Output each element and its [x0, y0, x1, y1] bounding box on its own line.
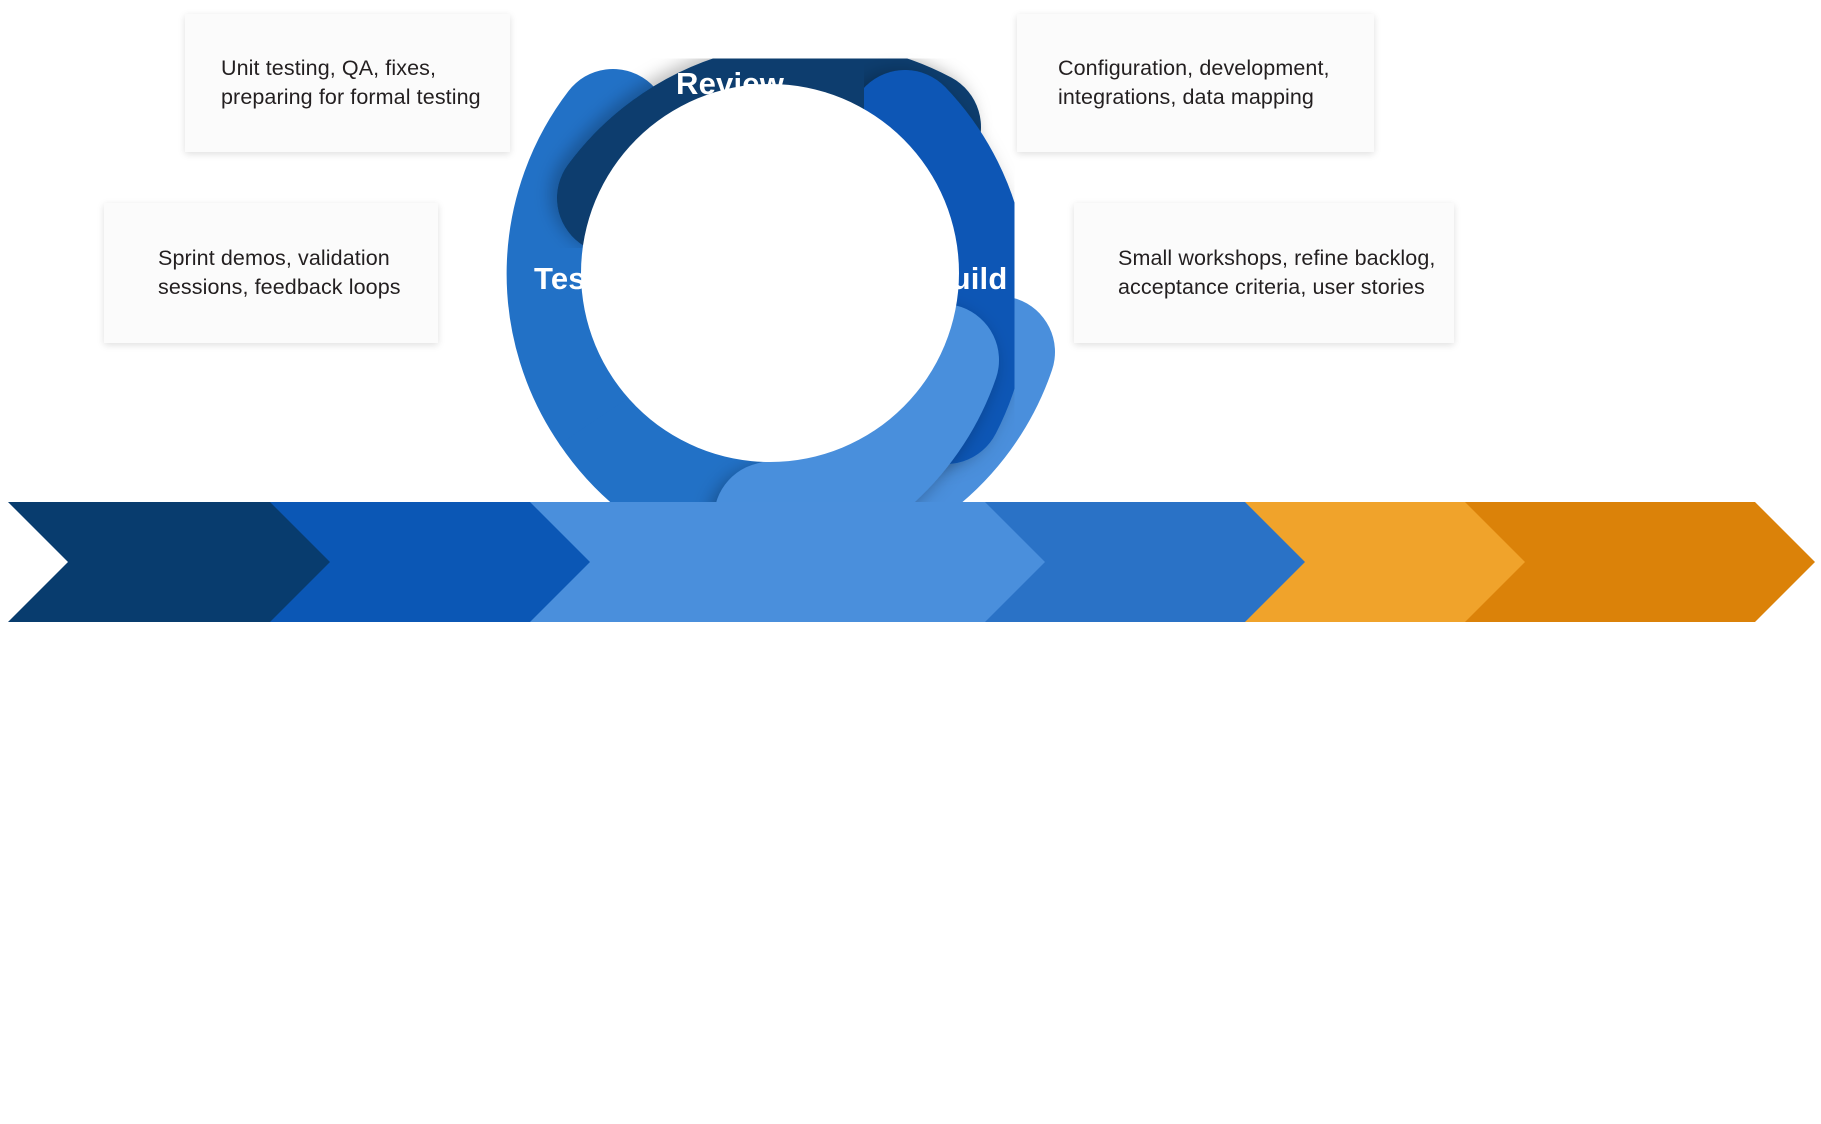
card-demo-activities: Sprint demos, validation sessions, feedb…: [104, 203, 438, 343]
phase-chevron-graphic: [0, 502, 1821, 622]
phase-chevron-bar: Launch Design Develop Confirm Release Su…: [0, 502, 1821, 622]
phase-label-develop[interactable]: Develop: [642, 1004, 772, 1124]
ring-label-build: Build: [929, 261, 1008, 297]
agile-delivery-lifecycle-diagram: Unit testing, QA, fixes, preparing for f…: [0, 0, 1821, 635]
card-demo-text: Sprint demos, validation sessions, feedb…: [158, 244, 401, 301]
phase-label-design[interactable]: Design: [345, 1004, 456, 1124]
phase-label-launch[interactable]: Launch: [102, 1004, 221, 1124]
iterative-cycle-ring: Review Build Test: [505, 8, 1035, 538]
card-test-text: Unit testing, QA, fixes, preparing for f…: [221, 54, 481, 111]
card-test-activities: Unit testing, QA, fixes, preparing for f…: [185, 14, 510, 152]
phase-shape-develop[interactable]: [530, 502, 1060, 622]
ring-center-hole: [581, 84, 959, 462]
phase-label-confirm[interactable]: Confirm: [948, 1004, 1076, 1124]
phase-label-release[interactable]: Release: [1168, 1004, 1294, 1124]
card-workshop-activities: Small workshops, refine backlog, accepta…: [1074, 203, 1454, 343]
card-build-text: Configuration, development, integrations…: [1058, 54, 1330, 111]
ring-label-review: Review: [676, 66, 784, 102]
ring-label-test: Test: [534, 261, 596, 297]
card-build-activities: Configuration, development, integrations…: [1017, 14, 1374, 152]
card-workshop-text: Small workshops, refine backlog, accepta…: [1118, 244, 1435, 301]
phase-label-sustain[interactable]: Sustain: [1386, 1004, 1507, 1124]
